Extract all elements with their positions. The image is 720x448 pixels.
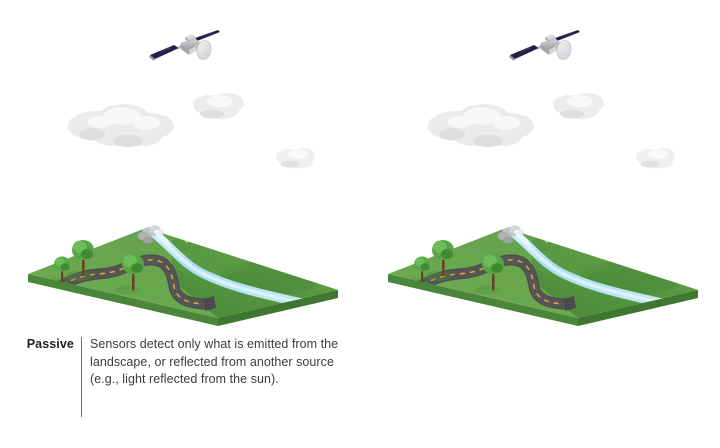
scene-active [360, 0, 720, 330]
terrain-icon [382, 218, 704, 326]
caption-passive: Passive Sensors detect only what is emit… [22, 336, 352, 436]
caption-term: Passive [22, 336, 81, 354]
panel-active: Active Instruments emit their own signal… [360, 0, 720, 448]
panel-passive: Passive Sensors detect only what is emit… [0, 0, 360, 448]
remote-sensing-figure: Passive Sensors detect only what is emit… [0, 0, 720, 448]
cloud-icon [548, 88, 610, 122]
terrain-icon [22, 218, 344, 326]
cloud-icon [422, 96, 548, 154]
cloud-icon [62, 96, 188, 154]
caption-description: Sensors detect only what is emitted from… [82, 336, 352, 389]
satellite-icon [508, 26, 582, 68]
cloud-icon [272, 142, 320, 170]
scene-passive [0, 0, 360, 330]
satellite-icon [148, 26, 222, 68]
cloud-icon [632, 142, 680, 170]
cloud-icon [188, 88, 250, 122]
